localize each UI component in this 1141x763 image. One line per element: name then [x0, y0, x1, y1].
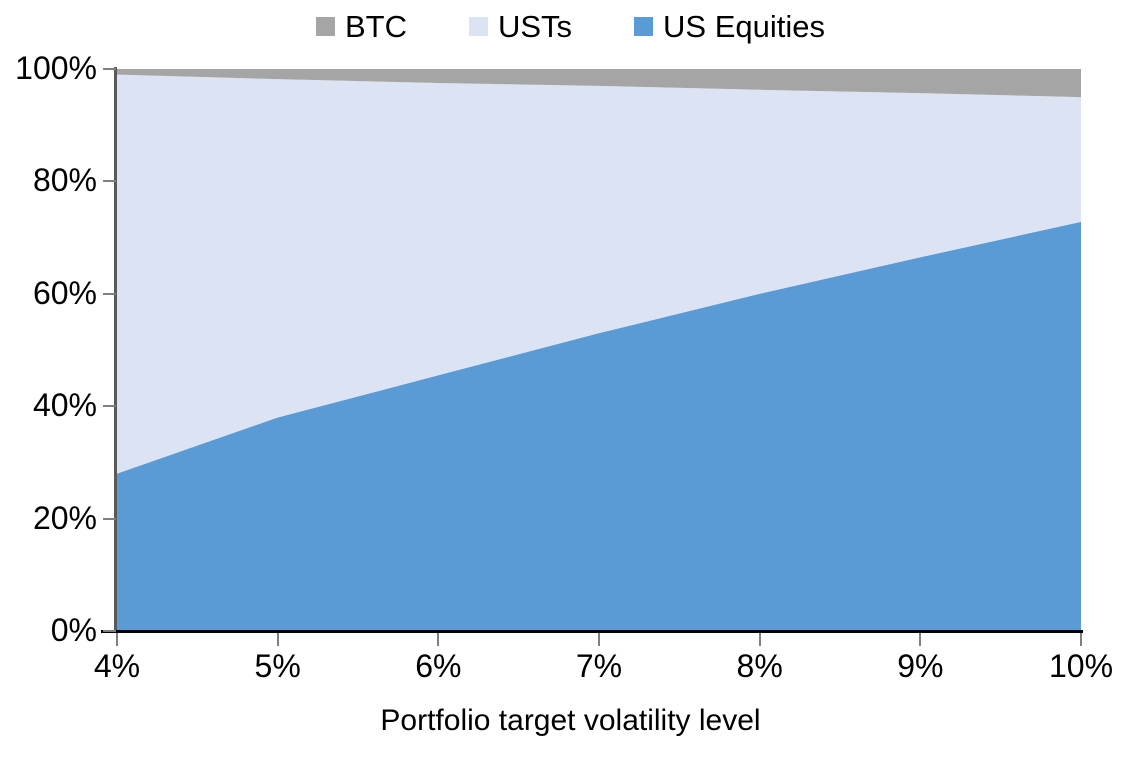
- y-tick-label: 60%: [33, 277, 97, 309]
- stacked-area-svg: [117, 69, 1081, 631]
- plot-area: [117, 69, 1081, 631]
- x-tick-mark: [598, 633, 600, 646]
- x-tick-mark: [759, 633, 761, 646]
- x-tick-mark: [116, 633, 118, 646]
- x-axis-title: Portfolio target volatility level: [0, 704, 1141, 738]
- legend-swatch-btc: [316, 17, 335, 36]
- legend-label-us-equities: US Equities: [663, 11, 825, 42]
- y-tick-mark: [103, 180, 116, 182]
- x-tick-label: 9%: [897, 650, 943, 682]
- x-tick-mark: [437, 633, 439, 646]
- legend-label-usts: USTs: [498, 11, 572, 42]
- y-tick-mark: [103, 518, 116, 520]
- y-axis-line: [114, 67, 117, 633]
- y-tick-label: 0%: [51, 614, 97, 646]
- legend-label-btc: BTC: [345, 11, 407, 42]
- y-tick-mark: [103, 405, 116, 407]
- x-tick-mark: [277, 633, 279, 646]
- chart-legend: BTC USTs US Equities: [0, 6, 1141, 46]
- chart-container: BTC USTs US Equities 0%20%40%60%80%100% …: [0, 0, 1141, 763]
- x-tick-label: 10%: [1049, 650, 1113, 682]
- legend-item-btc[interactable]: BTC: [316, 11, 407, 42]
- y-tick-label: 100%: [15, 52, 97, 84]
- y-tick-mark: [103, 68, 116, 70]
- legend-item-us-equities[interactable]: US Equities: [634, 11, 825, 42]
- x-tick-label: 7%: [576, 650, 622, 682]
- legend-swatch-us-equities: [634, 17, 653, 36]
- x-tick-label: 8%: [737, 650, 783, 682]
- x-tick-label: 4%: [94, 650, 140, 682]
- x-tick-mark: [1080, 633, 1082, 646]
- x-tick-label: 5%: [255, 650, 301, 682]
- y-tick-mark: [103, 630, 116, 632]
- y-tick-label: 80%: [33, 164, 97, 196]
- y-tick-label: 20%: [33, 502, 97, 534]
- x-tick-label: 6%: [415, 650, 461, 682]
- y-tick-mark: [103, 293, 116, 295]
- x-tick-mark: [919, 633, 921, 646]
- y-tick-label: 40%: [33, 389, 97, 421]
- legend-swatch-usts: [469, 17, 488, 36]
- legend-item-usts[interactable]: USTs: [469, 11, 572, 42]
- x-axis-line: [101, 630, 1083, 633]
